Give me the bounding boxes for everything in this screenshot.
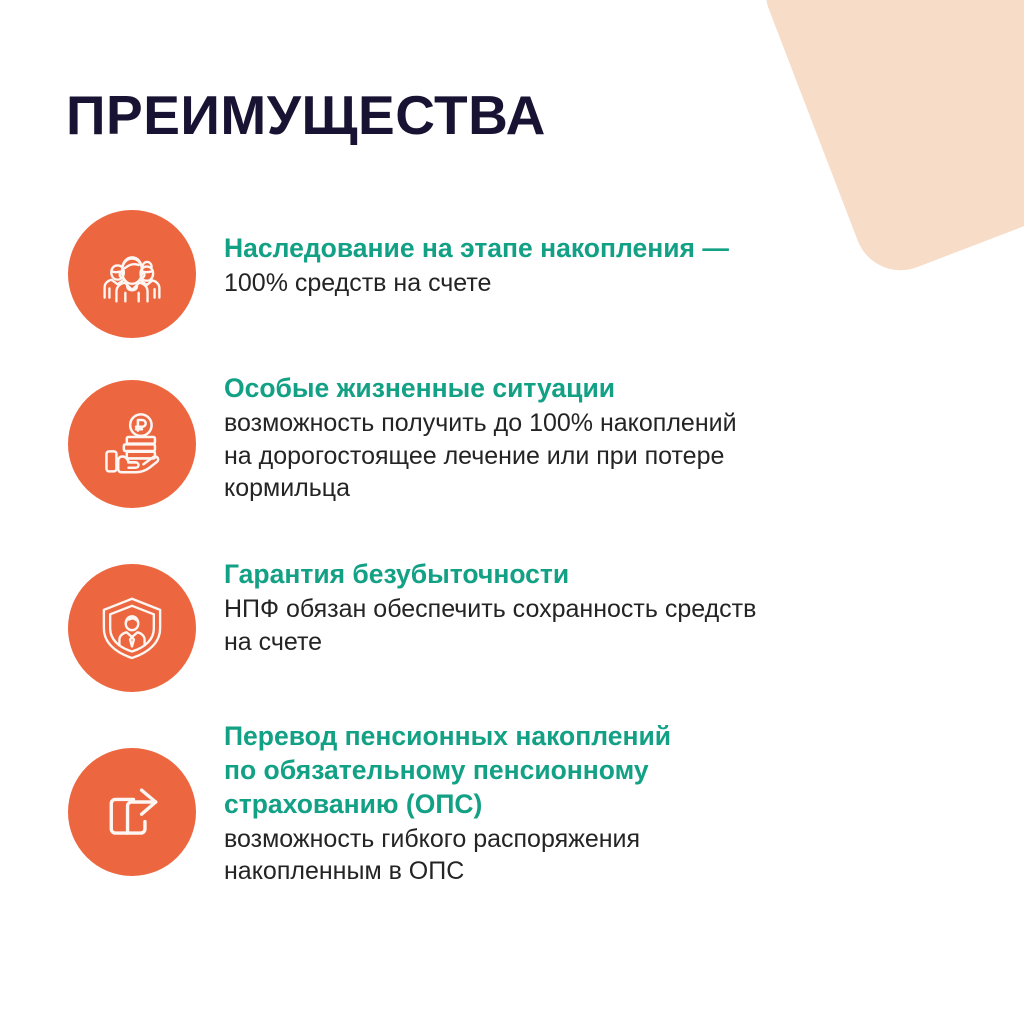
benefit-item: Гарантия безубыточности НПФ обязан обесп… xyxy=(0,552,1024,720)
benefit-body: возможность получить до 100% накоплений … xyxy=(224,407,984,505)
benefit-item: Перевод пенсионных накоплений по обязате… xyxy=(0,720,1024,910)
family-group-icon xyxy=(68,210,196,338)
benefit-heading: Особые жизненные ситуации xyxy=(224,372,984,406)
benefit-body: возможность гибкого распоряжения накопле… xyxy=(224,823,984,889)
slide-root: ПРЕИМУЩЕСТВА xyxy=(0,0,1024,1024)
transfer-arrow-out-icon xyxy=(68,748,196,876)
benefit-text-block: Гарантия безубыточности НПФ обязан обесп… xyxy=(196,552,984,658)
benefit-heading: Перевод пенсионных накоплений по обязате… xyxy=(224,720,984,822)
benefits-list: Наследование на этапе накопления — 100% … xyxy=(0,196,1024,910)
benefit-item: Наследование на этапе накопления — 100% … xyxy=(0,196,1024,364)
shield-person-icon xyxy=(68,564,196,692)
benefit-text-block: Наследование на этапе накопления — 100% … xyxy=(196,196,984,300)
benefit-text-block: Особые жизненные ситуации возможность по… xyxy=(196,364,984,505)
benefit-text-block: Перевод пенсионных накоплений по обязате… xyxy=(196,720,984,888)
benefit-heading: Наследование на этапе накопления — xyxy=(224,232,984,266)
benefit-body: НПФ обязан обеспечить сохранность средст… xyxy=(224,593,984,659)
benefit-body: 100% средств на счете xyxy=(224,267,984,300)
hand-holding-ruble-coins-icon xyxy=(68,380,196,508)
page-title: ПРЕИМУЩЕСТВА xyxy=(66,87,546,145)
benefit-heading: Гарантия безубыточности xyxy=(224,558,984,592)
benefit-item: Особые жизненные ситуации возможность по… xyxy=(0,364,1024,552)
